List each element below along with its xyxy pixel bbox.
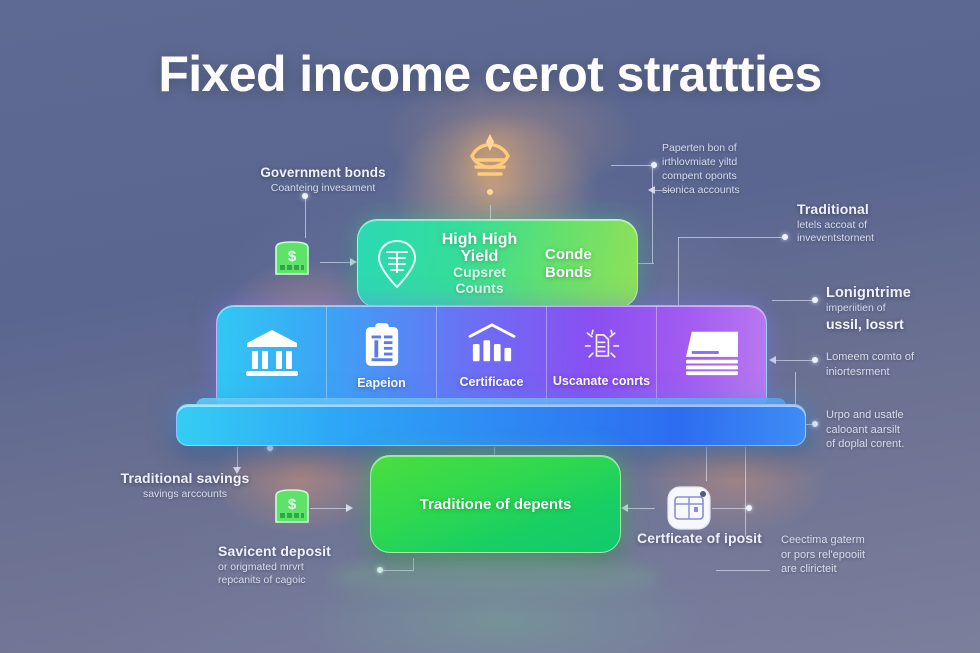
annotation-heading: Certficate of iposit bbox=[637, 530, 797, 548]
card-right-line2: Bonds bbox=[545, 264, 621, 282]
instruments-bar: Eapeion Certificace bbox=[216, 305, 767, 407]
high-yield-bonds-card[interactable]: High High Yield Cupsret Counts Conde Bon… bbox=[357, 219, 638, 308]
annotation-subtext: letels accoat of inveventstornent bbox=[797, 219, 967, 247]
clipboard-list-icon bbox=[363, 322, 401, 373]
annotation-heading: Government bonds bbox=[238, 165, 408, 182]
connector-line bbox=[237, 447, 238, 469]
card-title-line1: High High Yield bbox=[430, 231, 529, 266]
certificate-card-icon bbox=[665, 484, 713, 537]
connector-line bbox=[305, 196, 306, 238]
card-label: Traditione of depents bbox=[420, 496, 572, 513]
stacked-papers-icon bbox=[681, 326, 743, 383]
card-title-line2: Cupsret Counts bbox=[430, 265, 529, 296]
annotation-government-bonds: Government bonds Coanteing invesament bbox=[238, 165, 408, 196]
bar-cell-eapeion[interactable]: Eapeion bbox=[327, 306, 437, 406]
connector-line bbox=[611, 165, 653, 166]
card-reflection bbox=[330, 556, 660, 602]
annotation-line: or pors rel'epooiit bbox=[781, 548, 941, 563]
connector-arrow bbox=[648, 186, 655, 194]
annotation-line: Paperten bon of bbox=[662, 142, 792, 156]
connector-arrow bbox=[621, 504, 628, 512]
annotation-longtime: Lonigntrime imperiitien of ussil, lossrt bbox=[826, 284, 976, 333]
annotation-heading: Savicent deposit bbox=[218, 543, 388, 561]
connector-line bbox=[652, 165, 653, 263]
connector-line bbox=[627, 508, 655, 509]
annotation-heading: Traditional bbox=[797, 201, 967, 219]
connector-line bbox=[775, 360, 814, 361]
annotation-line: are cliricteit bbox=[781, 562, 941, 577]
connector-line bbox=[712, 508, 748, 509]
annotation-line: Urpo and usatle bbox=[826, 408, 976, 423]
bar-cell-label: Eapeion bbox=[357, 376, 406, 390]
bar-cell-bank[interactable] bbox=[217, 306, 327, 406]
annotation-traditional-savings: Traditional savings savings arccounts bbox=[90, 470, 280, 501]
connector-line bbox=[772, 300, 814, 301]
connector-arrow bbox=[350, 258, 357, 266]
annotation-line: Ceectima gaterm bbox=[781, 533, 941, 548]
connector-line bbox=[320, 262, 352, 263]
page-title: Fixed income cerot strattties bbox=[0, 45, 980, 103]
annotation-certificate-label: Certficate of iposit bbox=[637, 530, 797, 548]
annotation-line: sionica accounts bbox=[662, 184, 792, 198]
card-right-line1: Conde bbox=[545, 246, 621, 264]
annotation-line: calooant aarsilt bbox=[826, 423, 976, 438]
annotation-line: of doplal corent. bbox=[826, 437, 976, 452]
annotation-heading: Lonigntrime bbox=[826, 284, 976, 302]
annotation-line: irthlovmiate yiltd bbox=[662, 156, 792, 170]
connector-line bbox=[636, 263, 654, 264]
annotation-subtext: Coanteing invesament bbox=[238, 182, 408, 196]
connector-line bbox=[716, 570, 770, 571]
annotation-line: iniortesrment bbox=[826, 365, 976, 380]
traditional-deposits-card[interactable]: Traditione of depents bbox=[370, 455, 621, 553]
svg-text:$: $ bbox=[288, 248, 297, 265]
pin-document-icon bbox=[374, 238, 420, 290]
annotation-paperten: Paperten bon of irthlovmiate yiltd compe… bbox=[662, 142, 792, 197]
document-arrows-icon bbox=[577, 324, 627, 371]
svg-text:$: $ bbox=[288, 496, 297, 513]
bank-chart-icon bbox=[467, 323, 517, 372]
annotation-ceectima: Ceectima gaterm or pors rel'epooiit are … bbox=[781, 533, 941, 577]
connector-line bbox=[745, 447, 746, 537]
annotation-subtext: savings arccounts bbox=[90, 488, 280, 502]
connector-line bbox=[310, 508, 348, 509]
connector-arrow bbox=[346, 504, 353, 512]
base-platform bbox=[176, 404, 806, 446]
annotation-subtext: imperiitien of bbox=[826, 302, 976, 316]
annotation-urpo: Urpo and usatle calooant aarsilt of dopl… bbox=[826, 408, 976, 452]
card-right-text: Conde Bonds bbox=[545, 246, 621, 281]
money-banknote-icon: $ bbox=[272, 240, 312, 283]
annotation-traditional: Traditional letels accoat of inveventsto… bbox=[797, 201, 967, 246]
annotation-line: Lomeem comto of bbox=[826, 350, 976, 365]
bar-cell-certificace[interactable]: Certificace bbox=[437, 306, 547, 406]
money-banknote-icon: $ bbox=[272, 488, 312, 531]
card-text-block: High High Yield Cupsret Counts bbox=[430, 231, 535, 297]
gold-emblem-icon bbox=[452, 126, 528, 202]
annotation-lomeem: Lomeem comto of iniortesrment bbox=[826, 350, 976, 379]
bar-cell-label: Certificace bbox=[460, 375, 524, 389]
bar-cell-papers[interactable] bbox=[657, 306, 766, 406]
annotation-line: compent oponts bbox=[662, 170, 792, 184]
bar-cell-uscanate[interactable]: Uscanate conrts bbox=[547, 306, 657, 406]
connector-line bbox=[706, 447, 707, 481]
annotation-heading: Traditional savings bbox=[90, 470, 280, 488]
connector-line bbox=[678, 237, 784, 238]
annotation-emphasis: ussil, lossrt bbox=[826, 316, 976, 334]
bar-cell-label: Uscanate conrts bbox=[553, 374, 650, 388]
connector-arrow bbox=[769, 356, 776, 364]
bank-building-icon bbox=[244, 327, 300, 382]
